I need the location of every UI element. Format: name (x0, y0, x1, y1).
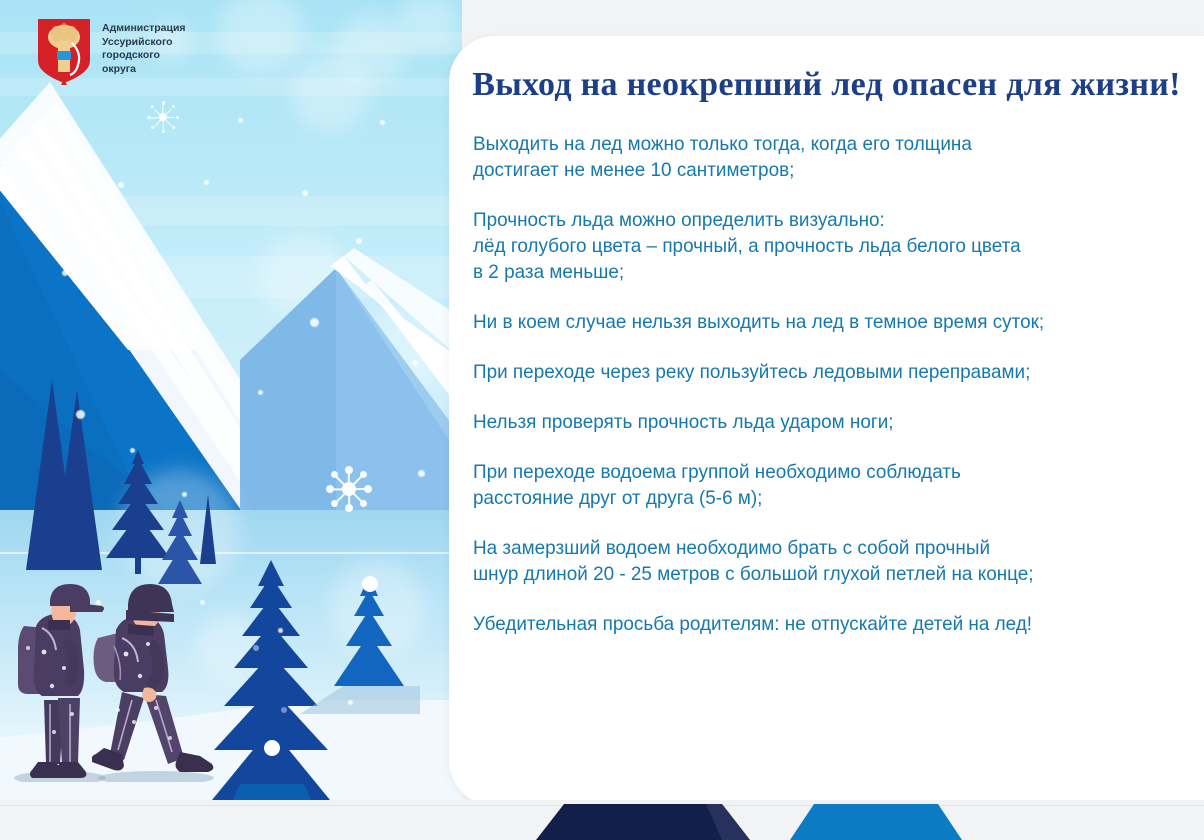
snow-dot (158, 316, 165, 323)
snow-dot (310, 318, 319, 327)
snow-dot (182, 492, 187, 497)
snow-dot (418, 470, 425, 477)
rule-item: При переходе водоема группой необходимо … (473, 459, 1181, 511)
ussuriysk-coat-of-arms-icon (36, 17, 92, 85)
administration-logo: Администрация Уссурийского городского ок… (36, 17, 246, 97)
snow-dot (238, 118, 243, 123)
snow-dot (76, 410, 85, 419)
poster-root: Администрация Уссурийского городского ок… (0, 0, 1204, 840)
snow-dot (88, 228, 98, 238)
rule-item: Нельзя проверять прочность льда ударом н… (473, 409, 1181, 435)
rule-item: На замерзший водоем необходимо брать с с… (473, 535, 1181, 587)
snow-dot (278, 628, 283, 633)
rule-item: Убедительная просьба родителям: не отпус… (473, 611, 1181, 637)
snow-dot (62, 270, 68, 276)
snow-dot (118, 182, 124, 188)
snow-dot (380, 120, 385, 125)
rule-item: Ни в коем случае нельзя выходить на лед … (473, 309, 1181, 335)
snow-dot (356, 238, 362, 244)
winter-illustration (0, 0, 462, 810)
rule-item: Прочность льда можно определить визуальн… (473, 207, 1181, 285)
snow-dot (130, 448, 135, 453)
fir-tree-foreground (212, 560, 330, 810)
snow-dot (412, 360, 418, 366)
snow-dot (96, 600, 101, 605)
fir-tree (190, 494, 226, 570)
page-title: Выход на неокрепший лед опасен для жизни… (449, 66, 1204, 104)
rule-item: При переходе через реку пользуйтесь ледо… (473, 359, 1181, 385)
person-walking-right (92, 582, 226, 782)
information-card: Выход на неокрепший лед опасен для жизни… (449, 36, 1204, 806)
snowflake-icon (326, 466, 372, 512)
snowflake-icon (146, 100, 180, 134)
rule-item: Выходить на лед можно только тогда, когд… (473, 131, 1181, 183)
snow-dot (348, 700, 353, 705)
snow-dot (200, 600, 205, 605)
decorative-trapezoid-navy (536, 804, 776, 840)
snow-dot (204, 180, 209, 185)
snow-dot (258, 390, 263, 395)
snow-dot (302, 190, 308, 196)
safety-rules-list: Выходить на лед можно только тогда, когд… (473, 131, 1203, 637)
organization-name: Администрация Уссурийского городского ок… (102, 22, 242, 76)
decorative-trapezoid-blue (790, 804, 970, 840)
